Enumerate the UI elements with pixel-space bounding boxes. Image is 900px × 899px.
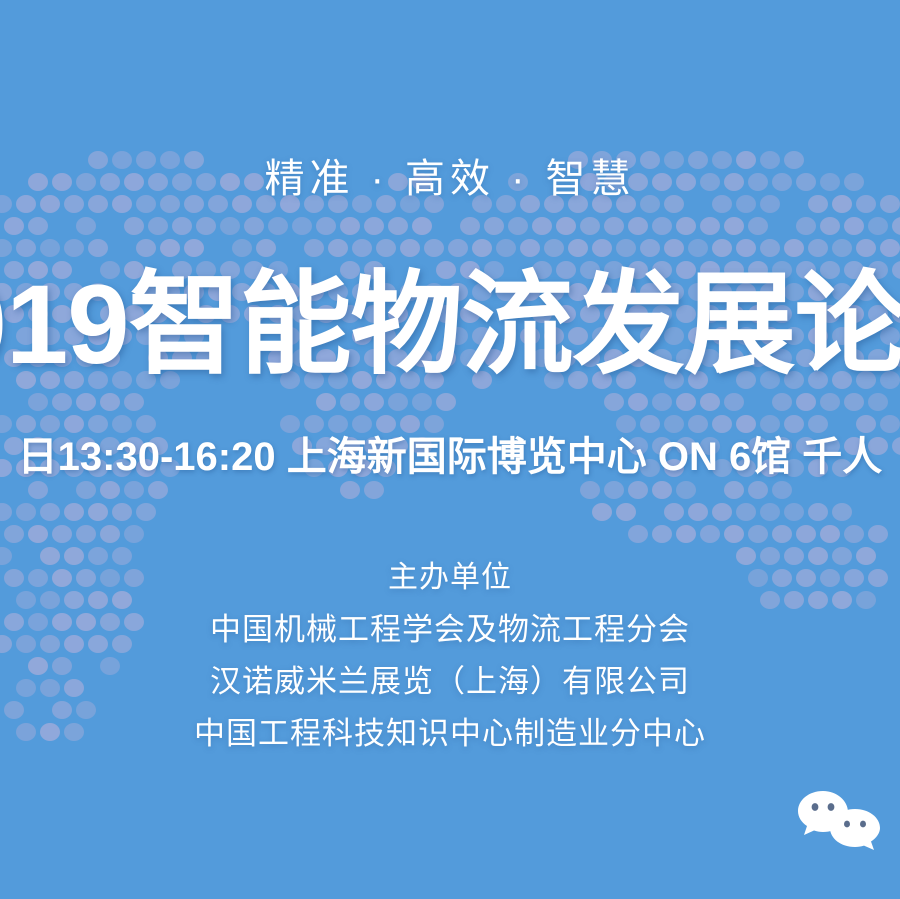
- wechat-icon: [796, 787, 888, 857]
- poster-title: 2019智能物流发展论坛: [0, 262, 900, 392]
- event-poster: 精准 · 高效 · 智慧 2019智能物流发展论坛 日13:30-16:20 上…: [0, 0, 900, 899]
- poster-venue-text: 日13:30-16:20 上海新国际博览中心 ON 6馆 千人: [18, 428, 883, 486]
- organizer-block: 主办单位 中国机械工程学会及物流工程分会 汉诺威米兰展览（上海）有限公司 中国工…: [0, 552, 900, 760]
- organizer-line: 中国机械工程学会及物流工程分会: [0, 604, 900, 656]
- organizer-heading: 主办单位: [0, 552, 900, 604]
- poster-title-text: 2019智能物流发展论坛: [0, 262, 900, 388]
- poster-tagline: 精准 · 高效 · 智慧: [0, 146, 900, 204]
- organizer-line: 汉诺威米兰展览（上海）有限公司: [0, 656, 900, 708]
- organizer-line: 中国工程科技知识中心制造业分中心: [0, 708, 900, 760]
- poster-venue-line: 日13:30-16:20 上海新国际博览中心 ON 6馆 千人: [0, 428, 900, 490]
